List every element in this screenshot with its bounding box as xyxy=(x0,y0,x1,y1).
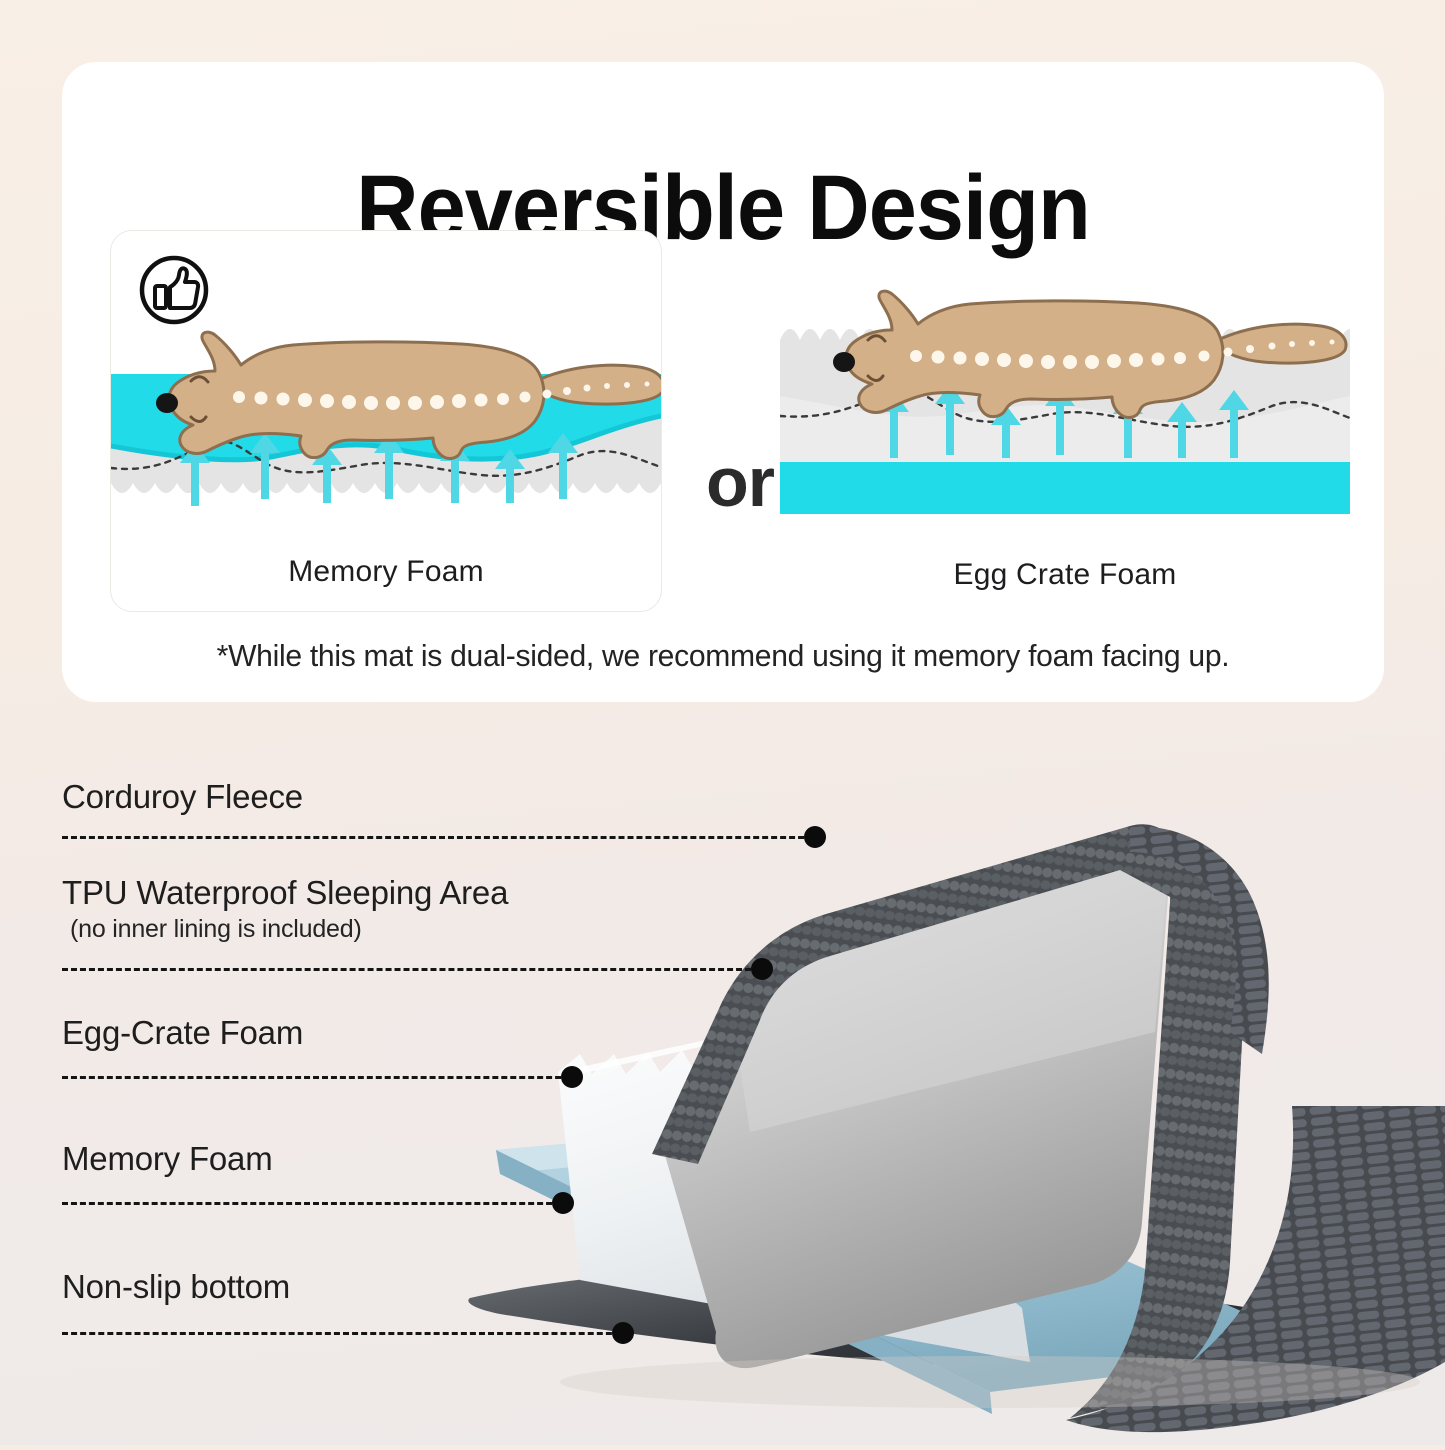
leader-dot xyxy=(612,1322,634,1344)
panel-caption-egg-crate: Egg Crate Foam xyxy=(780,558,1350,592)
leader-dot xyxy=(804,826,826,848)
egg-crate-scene xyxy=(780,230,1350,560)
leader-dot xyxy=(751,958,773,980)
callout-label: Non-slip bottom xyxy=(62,1268,290,1307)
leader-dash xyxy=(62,1332,630,1335)
callout-label: TPU Waterproof Sleeping Area xyxy=(62,874,508,913)
callout-label: Corduroy Fleece xyxy=(62,778,303,817)
callout-non-slip-bottom: Non-slip bottom xyxy=(62,1268,290,1307)
leader-dash xyxy=(62,1202,570,1205)
separator-or: or xyxy=(685,442,795,522)
reversible-design-card: Reversible Design xyxy=(62,62,1384,702)
callout-corduroy-fleece: Corduroy Fleece xyxy=(62,778,303,817)
callout-label: Egg-Crate Foam xyxy=(62,1014,303,1053)
leader-dash xyxy=(62,1076,579,1079)
egg-crate-illustration xyxy=(780,230,1350,560)
callout-sublabel: (no inner lining is included) xyxy=(62,915,508,944)
leader-dash xyxy=(62,836,822,839)
leader-line-egg-crate-foam xyxy=(62,1070,579,1084)
infographic-root: Reversible Design xyxy=(0,0,1445,1445)
panel-memory-foam-up: Memory Foam xyxy=(110,230,662,612)
leader-line-non-slip-bottom xyxy=(62,1326,630,1340)
callout-tpu-waterproof: TPU Waterproof Sleeping Area (no inner l… xyxy=(62,874,508,944)
leader-dot xyxy=(561,1066,583,1088)
layer-breakdown-section: Corduroy Fleece TPU Waterproof Sleeping … xyxy=(0,702,1445,1445)
leader-line-corduroy-fleece xyxy=(62,830,822,844)
leader-dash xyxy=(62,968,769,971)
callout-memory-foam: Memory Foam xyxy=(62,1140,273,1179)
footnote-text: *While this mat is dual-sided, we recomm… xyxy=(82,638,1364,674)
panel-egg-crate-up: Egg Crate Foam xyxy=(780,230,1350,610)
thumbs-up-icon xyxy=(137,253,211,327)
leader-line-memory-foam xyxy=(62,1196,570,1210)
leader-dot xyxy=(552,1192,574,1214)
panel-caption-memory-foam: Memory Foam xyxy=(111,555,661,589)
callout-egg-crate-foam: Egg-Crate Foam xyxy=(62,1014,303,1053)
leader-line-tpu-waterproof xyxy=(62,962,769,976)
callout-label: Memory Foam xyxy=(62,1140,273,1179)
comparison-panels: Memory Foam or xyxy=(62,230,1384,630)
